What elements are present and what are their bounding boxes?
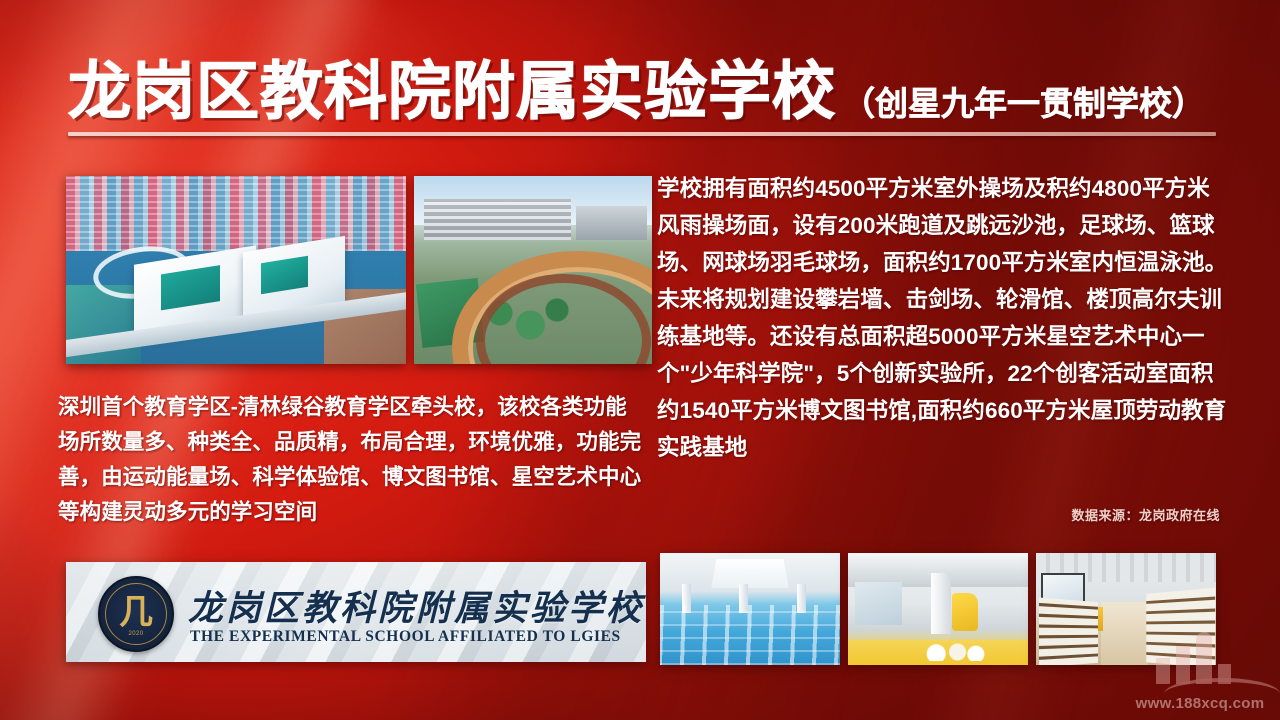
right-paragraph: 学校拥有面积约4500平方米室外操场及积约4800平方米风雨操场面，设有200米…: [657, 170, 1232, 466]
watermark-url: www.188xcq.com: [1130, 695, 1270, 712]
aerial-campus-illustration: [66, 176, 406, 364]
building-block: [424, 199, 572, 240]
building-block: [576, 206, 647, 240]
activity-atrium-photo: [848, 553, 1028, 665]
logo-bar: [1196, 632, 1212, 684]
poster-canvas: 龙岗区教科院附属实验学校 （创星九年一贯制学校） 学校拥有面积约4500平方米室…: [0, 0, 1280, 720]
watermark-logo-icon: [1154, 632, 1246, 684]
title-subtitle-text: （创星九年一贯制学校）: [842, 87, 1205, 124]
left-paragraph: 深圳首个教育学区-清林绿谷教育学区牵头校，该校各类功能场所数量多、种类全、品质精…: [58, 390, 648, 530]
school-seal-icon: 几 2020: [98, 576, 174, 652]
aerial-campus-photo: [66, 176, 406, 364]
site-watermark: www.188xcq.com: [1130, 630, 1270, 712]
bookshelf: [1039, 598, 1098, 665]
pool-water-ripples: [660, 611, 840, 665]
rooftop-track-illustration: [414, 176, 652, 364]
indoor-swimming-pool-photo: [660, 553, 840, 665]
atrium-illustration: [848, 553, 1028, 665]
glass-wall: [855, 582, 902, 625]
light-strip: [711, 560, 789, 589]
rooftop-running-track-photo: [414, 176, 652, 364]
page-title: 龙岗区教科院附属实验学校 （创星九年一贯制学校）: [68, 44, 1228, 124]
seal-glyph: 几: [119, 596, 153, 630]
school-logo-banner: 几 2020 龙岗区教科院附属实验学校 THE EXPERIMENTAL SCH…: [66, 562, 646, 662]
logo-bar: [1156, 658, 1170, 684]
column: [931, 573, 951, 633]
title-main-text: 龙岗区教科院附属实验学校: [68, 61, 836, 124]
data-source-label: 数据来源：龙岗政府在线: [930, 505, 1220, 524]
banner-school-name-cn: 龙岗区教科院附属实验学校: [188, 580, 644, 631]
pool-illustration: [660, 553, 840, 665]
residential-towers: [66, 176, 406, 251]
seal-year: 2020: [100, 631, 172, 637]
logo-bar: [1176, 646, 1190, 684]
yellow-stair: [952, 593, 977, 631]
title-divider: [68, 132, 1216, 136]
seating-pods: [924, 643, 985, 661]
banner-school-name-en: THE EXPERIMENTAL SCHOOL AFFILIATED TO LG…: [190, 628, 621, 646]
